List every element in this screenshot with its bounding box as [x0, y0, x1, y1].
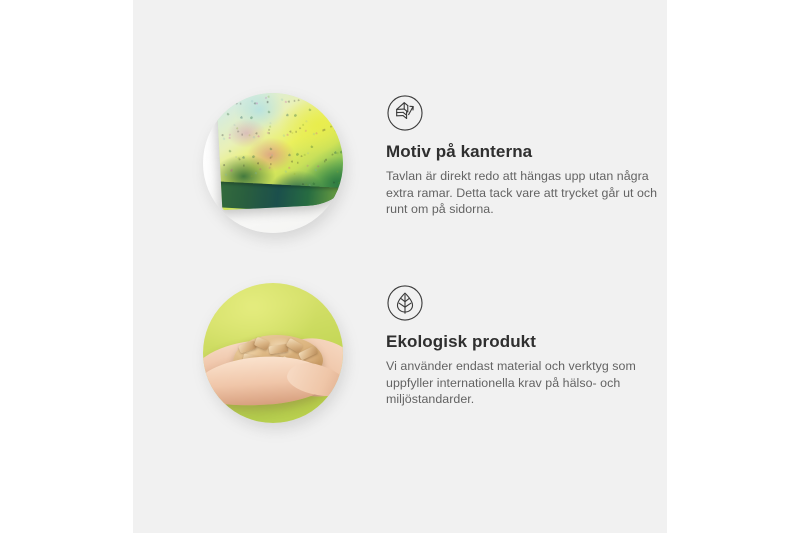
leaf-icon [386, 284, 424, 322]
wood-chips-hands-photo [203, 283, 343, 423]
canvas-corner-photo [203, 93, 343, 233]
canvas-photo-backdrop [203, 93, 343, 233]
feature-row-eco-product: Ekologisk produkt Vi använder endast mat… [133, 278, 667, 428]
feature-row-printed-edges: Motiv på kanterna Tavlan är direkt redo … [133, 88, 667, 238]
eco-photo-scene [203, 283, 343, 423]
canvas-wrapped-edge-icon [386, 94, 424, 132]
feature-title: Motiv på kanterna [386, 142, 662, 162]
feature-description: Tavlan är direkt redo att hängas upp uta… [386, 168, 662, 218]
feature-text-printed-edges: Motiv på kanterna Tavlan är direkt redo … [386, 94, 662, 218]
product-feature-banner: Motiv på kanterna Tavlan är direkt redo … [0, 0, 800, 533]
feature-description: Vi använder endast material och verktyg … [386, 358, 662, 408]
wood-chip [254, 337, 270, 351]
feature-title: Ekologisk produkt [386, 332, 662, 352]
feature-text-eco-product: Ekologisk produkt Vi använder endast mat… [386, 284, 662, 408]
canvas-block [216, 93, 343, 210]
content-panel: Motiv på kanterna Tavlan är direkt redo … [133, 0, 667, 533]
